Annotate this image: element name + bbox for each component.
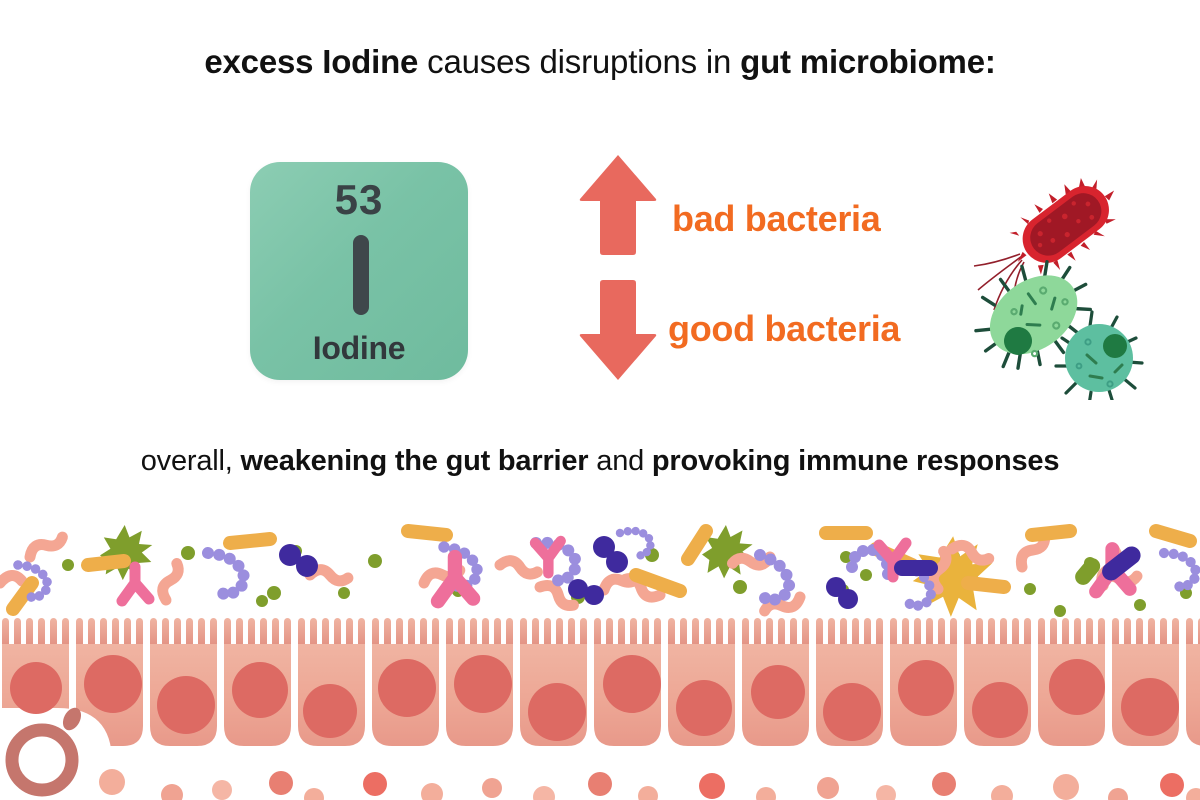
label-good-bacteria: good bacteria — [668, 308, 900, 350]
label-bad-bacteria: bad bacteria — [672, 198, 880, 240]
headline-mid: causes disruptions in — [418, 43, 740, 80]
subtitle-part-1: overall, — [141, 445, 241, 477]
lamina-propria-particles — [99, 769, 1200, 800]
subtitle-bold-1: weakening the gut barrier — [240, 445, 588, 477]
arrow-up-icon — [578, 153, 658, 258]
intestinal-epithelium — [0, 612, 1200, 800]
headline-bold-1: excess Iodine — [204, 43, 418, 80]
bacteria-illustration-cluster — [960, 150, 1160, 400]
page-title: excess Iodine causes disruptions in gut … — [0, 42, 1200, 82]
gut-lumen-microbiota-band — [0, 505, 1200, 617]
infographic-canvas: excess Iodine causes disruptions in gut … — [0, 0, 1200, 800]
bad-bacterium-body — [996, 161, 1134, 289]
element-name: Iodine — [250, 330, 468, 367]
subtitle: overall, weakening the gut barrier and p… — [0, 442, 1200, 480]
iodine-element-tile: 53 Iodine — [250, 162, 468, 380]
subtitle-part-2: and — [588, 445, 652, 477]
element-symbol-i — [353, 235, 369, 315]
atomic-number: 53 — [250, 176, 468, 224]
subtitle-bold-2: provoking immune responses — [652, 445, 1059, 477]
arrow-down-icon — [578, 278, 658, 383]
headline-bold-2: gut microbiome: — [740, 43, 996, 80]
